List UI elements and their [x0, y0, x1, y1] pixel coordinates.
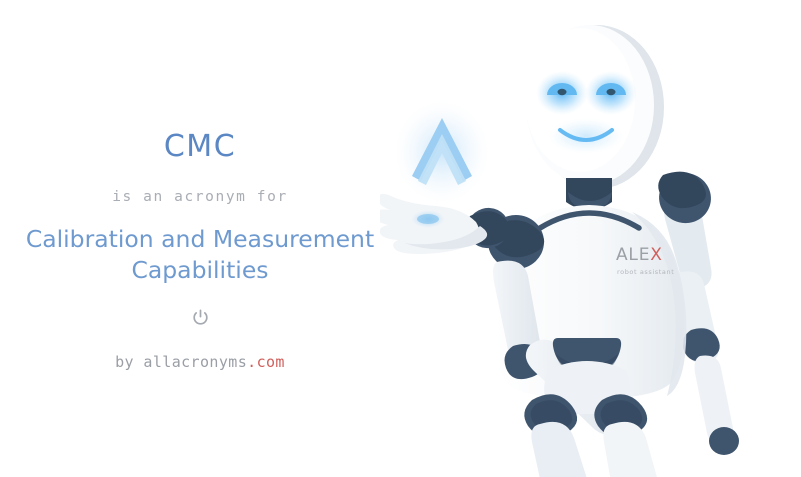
acronym-card: CMC is an acronym for Calibration and Me… — [0, 0, 801, 477]
attribution-prefix: by allacronyms — [115, 353, 247, 371]
power-standby-icon — [192, 309, 209, 327]
robot-badge-name: ALEX — [616, 245, 663, 265]
acronym-expansion: Calibration and Measurement Capabilities — [10, 205, 390, 286]
power-icon-container — [192, 286, 209, 327]
chevron-up-hologram-icon — [394, 100, 490, 204]
robot-head — [525, 25, 664, 189]
text-panel: CMC is an acronym for Calibration and Me… — [0, 0, 400, 477]
attribution-tld: .com — [247, 353, 285, 371]
acronym-title: CMC — [164, 132, 236, 162]
robot-illustration: ALEX robot assistant — [380, 0, 801, 477]
acronym-connector-label: is an acronym for — [112, 162, 288, 205]
robot-badge-subtitle: robot assistant — [617, 268, 674, 276]
attribution-line: by allacronyms.com — [115, 327, 285, 371]
